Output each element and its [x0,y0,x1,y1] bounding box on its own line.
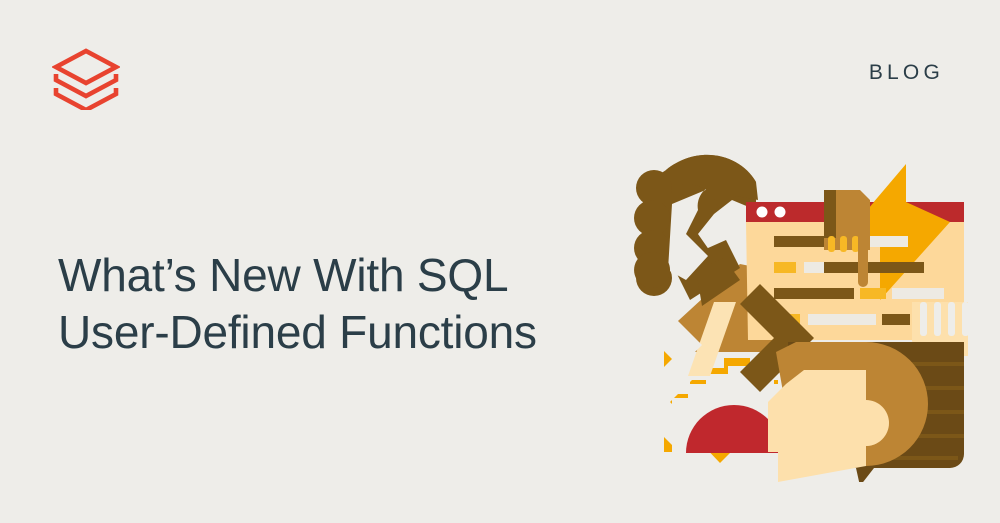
code-line-token [824,262,924,273]
page-title: What’s New With SQL User-Defined Functio… [58,247,537,361]
page-title-line-1: What’s New With SQL [58,249,508,301]
window-dot-left[interactable] [757,207,768,218]
kicker-label: BLOG [869,62,944,83]
window-dot-right[interactable] [775,207,786,218]
code-line-token [774,288,854,299]
stacked-layers-icon [52,48,120,110]
code-line-token [892,288,944,299]
blog-hero-card: BLOG What’s New With SQL User-Defined Fu… [0,0,1000,523]
blob-lobe [634,252,670,288]
sql-udf-illustration-svg [628,152,968,482]
hero-illustration [628,152,968,482]
code-line-token [882,314,910,325]
code-line-token [774,262,796,273]
page-title-line-2: User-Defined Functions [58,304,537,361]
code-line-token [808,314,876,325]
code-line-token [860,288,886,299]
databricks-logo[interactable] [52,48,120,110]
